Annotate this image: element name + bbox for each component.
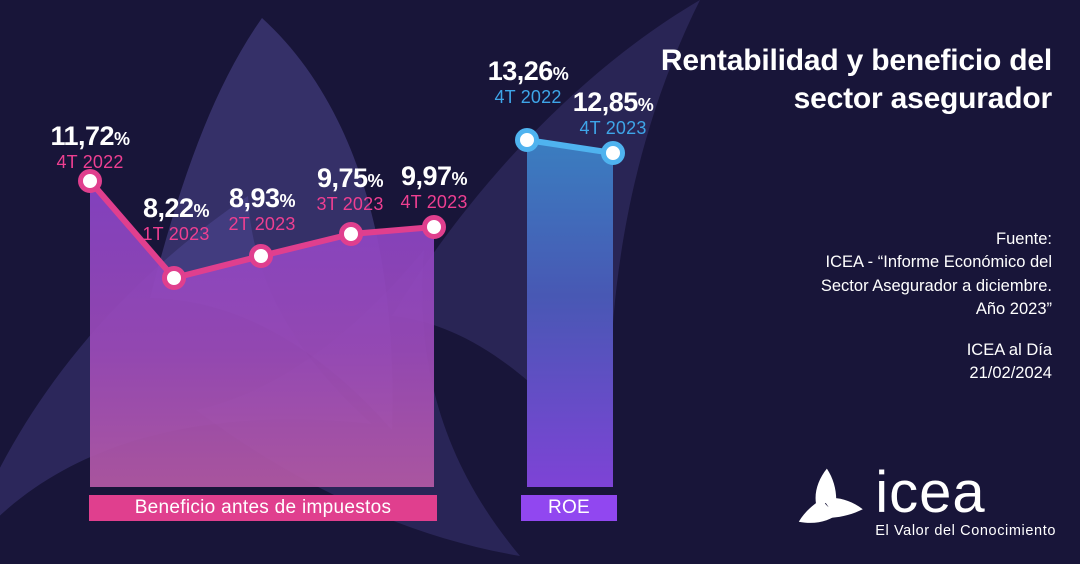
logo-tagline: El Valor del Conocimiento: [875, 523, 1056, 539]
data-value-benefit-1: 8,22%: [142, 195, 209, 222]
legend-label-benefit: Beneficio antes de impuestos: [135, 497, 392, 519]
legend-item-benefit[interactable]: Beneficio antes de impuestos: [89, 495, 437, 521]
data-label-roe-0: 13,26% 4T 2022: [488, 58, 569, 106]
source-spacer: [622, 322, 1052, 339]
data-label-benefit-4: 9,97% 4T 2023: [400, 163, 467, 211]
roe-bar: [527, 140, 613, 487]
logo-wordmark: icea: [875, 467, 1056, 519]
data-label-benefit-2: 8,93% 2T 2023: [228, 185, 295, 233]
data-label-benefit-1: 8,22% 1T 2023: [142, 195, 209, 243]
logo-text-group: icea El Valor del Conocimiento: [875, 467, 1056, 539]
source-line-3: Sector Asegurador a diciembre.: [821, 277, 1052, 295]
data-period-benefit-0: 4T 2022: [50, 153, 129, 171]
data-period-roe-0: 4T 2022: [488, 88, 569, 106]
source-line-1: Fuente:: [996, 230, 1052, 248]
data-value-benefit-4: 9,97%: [400, 163, 467, 190]
data-period-benefit-3: 3T 2023: [316, 195, 383, 213]
source-line-5: ICEA al Día: [967, 341, 1052, 359]
legend-label-roe: ROE: [548, 497, 590, 519]
data-label-benefit-3: 9,75% 3T 2023: [316, 165, 383, 213]
data-period-benefit-1: 1T 2023: [142, 225, 209, 243]
icea-logo: icea El Valor del Conocimiento: [791, 464, 1056, 542]
data-period-benefit-4: 4T 2023: [400, 193, 467, 211]
data-label-benefit-0: 11,72% 4T 2022: [50, 123, 129, 171]
source-block: Fuente: ICEA - “Informe Económico del Se…: [622, 228, 1052, 386]
legend-item-roe[interactable]: ROE: [521, 495, 617, 521]
source-line-4: Año 2023”: [976, 300, 1052, 318]
source-line-2: ICEA - “Informe Económico del: [825, 253, 1052, 271]
data-value-roe-0: 13,26%: [488, 58, 569, 85]
source-line-6: 21/02/2024: [969, 364, 1052, 382]
data-value-benefit-2: 8,93%: [228, 185, 295, 212]
data-period-roe-1: 4T 2023: [573, 119, 654, 137]
infographic-canvas: 11,72% 4T 2022 8,22% 1T 2023 8,93% 2T 20…: [0, 0, 1080, 564]
page-title: Rentabilidad y beneficio del sector aseg…: [622, 42, 1052, 119]
data-period-benefit-2: 2T 2023: [228, 215, 295, 233]
pinwheel-icon: [791, 464, 869, 542]
data-value-benefit-3: 9,75%: [316, 165, 383, 192]
data-value-benefit-0: 11,72%: [50, 123, 129, 150]
